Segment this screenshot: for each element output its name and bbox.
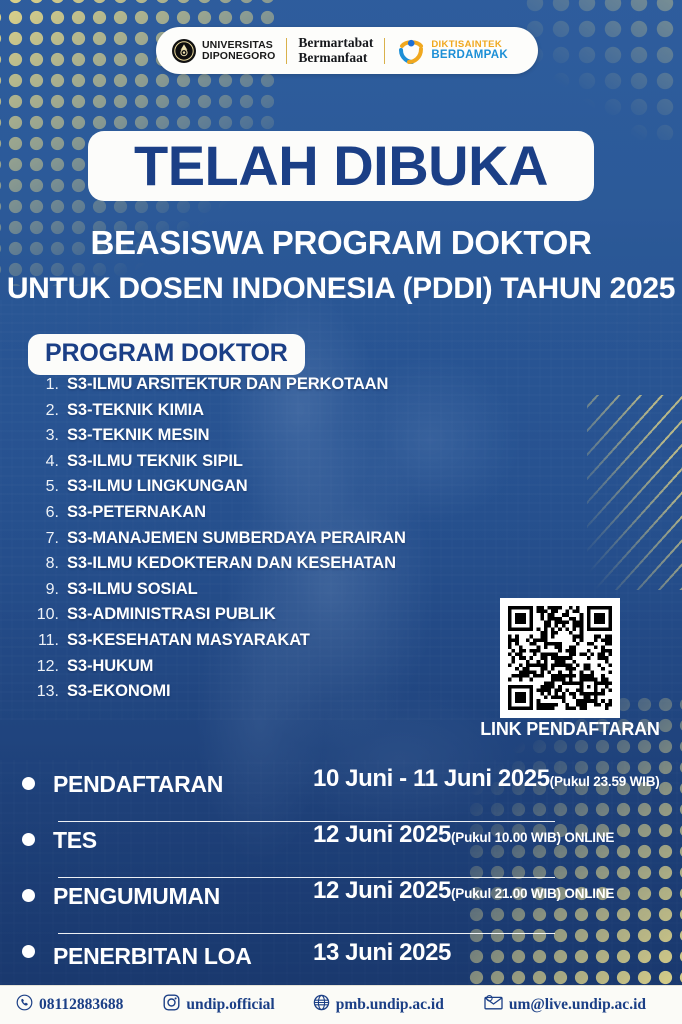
program-list-item: 3.S3-TEKNIK MESIN	[33, 426, 503, 452]
program-item-name: S3-TEKNIK MESIN	[67, 426, 209, 445]
program-item-number: 4.	[33, 453, 67, 471]
program-list-item: 11.S3-KESEHATAN MASYARAKAT	[33, 631, 503, 657]
schedule-row: TES12 Juni 2025(Pukul 10.00 WIB) ONLINE	[0, 822, 682, 878]
schedule-note: (Pukul 21.00 WIB) ONLINE	[451, 886, 614, 901]
email-icon	[484, 994, 503, 1016]
program-item-name: S3-TEKNIK KIMIA	[67, 401, 204, 420]
program-list-item: 5.S3-ILMU LINGKUNGAN	[33, 477, 503, 503]
program-item-number: 5.	[33, 478, 67, 496]
qr-code-block[interactable]	[500, 598, 620, 718]
program-item-number: 6.	[33, 504, 67, 522]
contact-email[interactable]: um@live.undip.ac.id	[484, 994, 646, 1016]
diagonal-gold-stripes	[587, 395, 682, 590]
program-item-number: 11.	[33, 632, 67, 650]
diktisaintek-logo-group: DIKTISAINTEK BERDAMPAK	[396, 37, 508, 65]
undip-logo-group: UNIVERSITAS DIPONEGORO	[172, 39, 275, 63]
contact-phone-text: 08112883688	[39, 996, 123, 1014]
contact-instagram[interactable]: undip.official	[163, 994, 274, 1016]
bullet-icon	[22, 777, 35, 790]
instagram-icon	[163, 994, 180, 1016]
schedule-row: PENDAFTARAN10 Juni - 11 Juni 2025(Pukul …	[0, 766, 682, 822]
program-doktor-label: PROGRAM DOKTOR	[45, 339, 288, 367]
program-item-name: S3-MANAJEMEN SUMBERDAYA PERAIRAN	[67, 529, 406, 548]
diktisaintek-wordmark: DIKTISAINTEK BERDAMPAK	[431, 40, 508, 61]
schedule-date-block: 13 Juni 2025	[313, 940, 682, 966]
program-item-number: 9.	[33, 581, 67, 599]
hero-subtitle: BEASISWA PROGRAM DOKTOR	[0, 224, 682, 262]
program-item-number: 10.	[33, 606, 67, 624]
program-item-name: S3-ILMU LINGKUNGAN	[67, 477, 248, 496]
program-item-name: S3-ILMU SOSIAL	[67, 580, 198, 599]
program-item-name: S3-HUKUM	[67, 657, 153, 676]
poster-root: UNIVERSITAS DIPONEGORO Bermartabat Berma…	[0, 0, 682, 1024]
schedule-note: (Pukul 23.59 WIB)	[550, 774, 660, 789]
program-list-item: 6.S3-PETERNAKAN	[33, 503, 503, 529]
schedule-note: (Pukul 10.00 WIB) ONLINE	[451, 830, 614, 845]
program-item-name: S3-ILMU TEKNIK SIPIL	[67, 452, 243, 471]
undip-wordmark: UNIVERSITAS DIPONEGORO	[202, 40, 275, 62]
diktisaintek-line-2: BERDAMPAK	[431, 50, 508, 62]
logo-divider-1	[286, 38, 287, 64]
undip-tagline: Bermartabat Bermanfaat	[298, 36, 373, 64]
program-item-number: 12.	[33, 658, 67, 676]
program-item-name: S3-ILMU KEDOKTERAN DAN KESEHATAN	[67, 554, 396, 573]
schedule-label: PENGUMUMAN	[53, 883, 313, 910]
program-list-item: 12.S3-HUKUM	[33, 657, 503, 683]
schedule-date: 10 Juni - 11 Juni 2025	[313, 765, 550, 792]
schedule-date-block: 12 Juni 2025(Pukul 10.00 WIB) ONLINE	[313, 822, 682, 848]
program-item-number: 7.	[33, 530, 67, 548]
schedule-date-block: 10 Juni - 11 Juni 2025(Pukul 23.59 WIB)	[313, 766, 682, 792]
hero-subtitle-2: UNTUK DOSEN INDONESIA (PDDI) TAHUN 2025	[0, 272, 682, 306]
tagline-line-1: Bermartabat	[298, 35, 373, 50]
bullet-icon	[22, 945, 35, 958]
program-item-name: S3-KESEHATAN MASYARAKAT	[67, 631, 310, 650]
program-item-number: 1.	[33, 376, 67, 394]
schedule-date-block: 12 Juni 2025(Pukul 21.00 WIB) ONLINE	[313, 878, 682, 904]
contact-footer: 08112883688 undip.official pmb.undip	[0, 985, 682, 1024]
schedule-date: 12 Juni 2025	[313, 877, 451, 904]
program-list-item: 1.S3-ILMU ARSITEKTUR DAN PERKOTAAN	[33, 375, 503, 401]
program-item-name: S3-ADMINISTRASI PUBLIK	[67, 605, 276, 624]
tagline-line-2: Bermanfaat	[298, 50, 367, 65]
schedule-label: PENERBITAN LOA	[53, 943, 313, 970]
program-list-item: 2.S3-TEKNIK KIMIA	[33, 401, 503, 427]
program-list-item: 4.S3-ILMU TEKNIK SIPIL	[33, 452, 503, 478]
program-list: 1.S3-ILMU ARSITEKTUR DAN PERKOTAAN2.S3-T…	[33, 375, 503, 708]
program-item-number: 3.	[33, 427, 67, 445]
schedule-row: PENGUMUMAN12 Juni 2025(Pukul 21.00 WIB) …	[0, 878, 682, 934]
program-doktor-pill: PROGRAM DOKTOR	[28, 334, 305, 375]
diktisaintek-figure-icon	[396, 37, 426, 65]
contact-email-text: um@live.undip.ac.id	[509, 996, 646, 1014]
globe-icon	[313, 994, 330, 1016]
schedule-row: PENERBITAN LOA13 Juni 2025	[0, 934, 682, 990]
schedule-date: 13 Juni 2025	[313, 939, 451, 966]
hero-title: TELAH DIBUKA	[134, 138, 548, 194]
program-list-item: 9.S3-ILMU SOSIAL	[33, 580, 503, 606]
qr-code-label: LINK PENDAFTARAN	[475, 719, 665, 740]
undip-line-2: DIPONEGORO	[202, 50, 275, 62]
program-list-item: 7.S3-MANAJEMEN SUMBERDAYA PERAIRAN	[33, 529, 503, 555]
program-item-name: S3-PETERNAKAN	[67, 503, 206, 522]
contact-website[interactable]: pmb.undip.ac.id	[313, 994, 444, 1016]
logo-divider-2	[384, 38, 385, 64]
contact-phone[interactable]: 08112883688	[16, 994, 123, 1016]
program-item-name: S3-EKONOMI	[67, 682, 171, 701]
contact-instagram-text: undip.official	[186, 996, 274, 1014]
qr-code-icon[interactable]	[500, 598, 620, 718]
program-list-item: 13.S3-EKONOMI	[33, 682, 503, 708]
schedule-table: PENDAFTARAN10 Juni - 11 Juni 2025(Pukul …	[0, 766, 682, 990]
logo-bar: UNIVERSITAS DIPONEGORO Bermartabat Berma…	[156, 27, 538, 74]
hero-title-pill: TELAH DIBUKA	[88, 131, 594, 201]
contact-website-text: pmb.undip.ac.id	[336, 996, 444, 1014]
undip-seal-icon	[172, 39, 196, 63]
program-list-item: 10.S3-ADMINISTRASI PUBLIK	[33, 605, 503, 631]
program-item-number: 13.	[33, 683, 67, 701]
program-item-number: 2.	[33, 402, 67, 420]
phone-icon	[16, 994, 33, 1016]
tagline-group: Bermartabat Bermanfaat	[298, 36, 373, 64]
schedule-label: PENDAFTARAN	[53, 771, 313, 798]
schedule-date: 12 Juni 2025	[313, 821, 451, 848]
program-item-name: S3-ILMU ARSITEKTUR DAN PERKOTAAN	[67, 375, 388, 394]
bullet-icon	[22, 833, 35, 846]
bullet-icon	[22, 889, 35, 902]
schedule-label: TES	[53, 827, 313, 854]
program-item-number: 8.	[33, 555, 67, 573]
program-list-item: 8.S3-ILMU KEDOKTERAN DAN KESEHATAN	[33, 554, 503, 580]
